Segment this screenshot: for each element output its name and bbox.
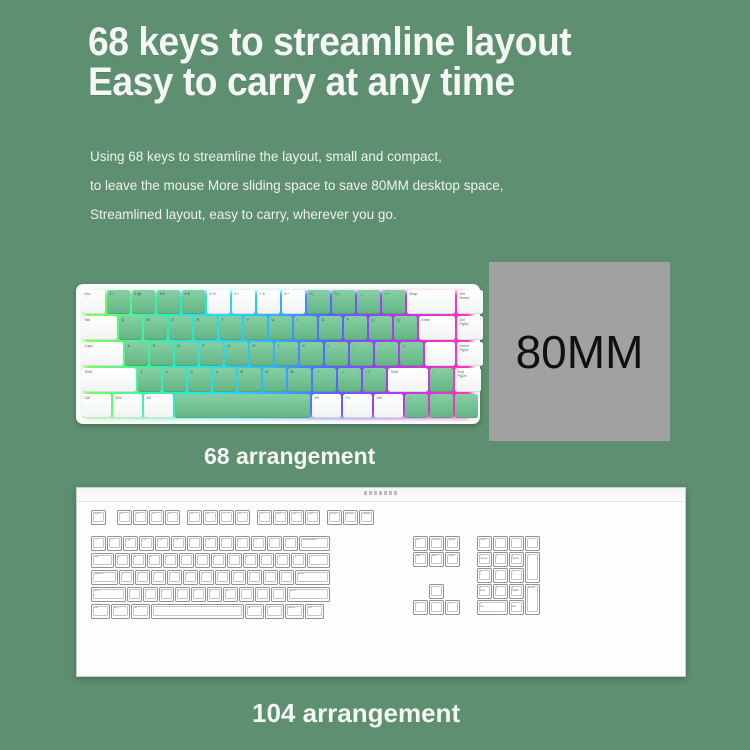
body-line-2: to leave the mouse More sliding space to… xyxy=(90,171,650,200)
key-a[interactable]: A xyxy=(119,570,134,585)
key-win[interactable]: Win xyxy=(113,394,142,418)
key--[interactable]: / xyxy=(493,536,508,551)
key-u[interactable]: U xyxy=(269,316,292,340)
key-f9[interactable]: F9 xyxy=(257,510,272,525)
key--[interactable]: * xyxy=(509,536,524,551)
key-a[interactable]: A xyxy=(125,342,148,366)
key-k[interactable]: K xyxy=(231,570,246,585)
key-u[interactable]: U xyxy=(211,553,226,568)
key--[interactable]: ` ~ xyxy=(91,536,106,551)
keyboard-bezel xyxy=(77,488,685,502)
key-x[interactable]: X xyxy=(143,587,158,602)
key-enter[interactable]: Enter xyxy=(419,316,455,340)
key-s[interactable]: S xyxy=(135,570,150,585)
key-pgup[interactable]: PgUp xyxy=(445,536,460,551)
key-t[interactable]: T xyxy=(219,316,242,340)
key-j[interactable]: J xyxy=(275,342,298,366)
key--[interactable]: [ { xyxy=(275,553,290,568)
key-d[interactable]: D xyxy=(175,342,198,366)
key-e[interactable]: E xyxy=(169,316,192,340)
key-fn[interactable]: Fn xyxy=(343,394,372,418)
key-s[interactable]: S xyxy=(150,342,173,366)
key--[interactable]: , < xyxy=(313,368,336,392)
key-3[interactable]: 3 PgDn xyxy=(509,584,524,599)
key-1[interactable]: 1 End xyxy=(477,584,492,599)
key-4-[interactable]: 4 $ xyxy=(182,290,205,314)
key-9-[interactable]: 9 ( xyxy=(235,536,250,551)
promo-page: 68 keys to streamline layout Easy to car… xyxy=(0,0,750,750)
key-z[interactable]: Z xyxy=(127,587,142,602)
key-ctrl[interactable]: Ctrl xyxy=(91,604,110,619)
key--[interactable]: \ | xyxy=(307,553,330,568)
key--[interactable]: \ | xyxy=(400,342,423,366)
key-f10[interactable]: F10 xyxy=(273,510,288,525)
key-f4[interactable]: F4 xyxy=(165,510,180,525)
key-fn[interactable]: Fn xyxy=(265,604,284,619)
key-b[interactable]: B xyxy=(238,368,261,392)
key-c[interactable]: C xyxy=(159,587,174,602)
key-l[interactable]: L xyxy=(325,342,348,366)
key-bksp[interactable]: Bksp xyxy=(407,290,455,314)
key--[interactable]: / ? xyxy=(363,368,386,392)
key-6-[interactable]: 6 ^ xyxy=(187,536,202,551)
key--[interactable]: - _ xyxy=(267,536,282,551)
key--[interactable]: / ? xyxy=(271,587,286,602)
key-menu[interactable]: Menu xyxy=(285,604,304,619)
key-ctrl[interactable]: Ctrl xyxy=(374,394,403,418)
key--[interactable]: → xyxy=(445,600,460,615)
key-k[interactable]: K xyxy=(300,342,323,366)
key-0[interactable]: 0 Ins xyxy=(477,600,508,615)
key-scrlk[interactable]: ScrLk xyxy=(343,510,358,525)
key-shift[interactable]: Shift xyxy=(287,587,330,602)
key-v[interactable]: V xyxy=(175,587,190,602)
key-9[interactable]: 9 PgUp xyxy=(509,552,524,567)
headline-line-1: 68 keys to streamline layout xyxy=(88,22,646,62)
key-f3[interactable]: F3 xyxy=(149,510,164,525)
caption-104: 104 arrangement xyxy=(252,698,460,729)
key-tab[interactable]: Tab xyxy=(91,553,114,568)
key-j[interactable]: J xyxy=(215,570,230,585)
keyboard-68-row: CapsASDFGHJKL; :' "\ |Home PgUp xyxy=(82,342,474,366)
key-g[interactable]: G xyxy=(225,342,248,366)
key-y[interactable]: Y xyxy=(244,316,267,340)
key--[interactable]: ↓ xyxy=(429,600,444,615)
key-4-[interactable]: 4 $ xyxy=(155,536,170,551)
key-3-[interactable]: 3 # xyxy=(157,290,180,314)
key-2[interactable]: 2 ↓ xyxy=(493,584,508,599)
measurement-callout-box: 80MM xyxy=(489,262,670,441)
key-shift[interactable]: Shift xyxy=(388,368,428,392)
measurement-label: 80MM xyxy=(516,325,644,379)
key-end[interactable]: End PgDn xyxy=(455,368,481,392)
key-x[interactable]: X xyxy=(163,368,186,392)
key-ctrl[interactable]: Ctrl xyxy=(82,394,111,418)
key-0-[interactable]: 0 ) xyxy=(332,290,355,314)
key-0-[interactable]: 0 ) xyxy=(251,536,266,551)
key-f11[interactable]: F11 xyxy=(289,510,304,525)
key-1-[interactable]: 1 ! xyxy=(107,536,122,551)
key-i[interactable]: I xyxy=(227,553,242,568)
key-shift[interactable]: Shift xyxy=(82,368,136,392)
key-esc[interactable]: Esc ~ ` xyxy=(82,290,105,314)
key-enter[interactable]: Enter xyxy=(295,570,330,585)
key-o[interactable]: O xyxy=(319,316,342,340)
key--[interactable]: ↑ xyxy=(430,368,453,392)
key--[interactable]: → xyxy=(455,394,478,418)
key-tab[interactable]: Tab xyxy=(82,316,117,340)
key--[interactable]: . Del xyxy=(509,600,524,615)
body-line-3: Streamlined layout, easy to carry, where… xyxy=(90,200,650,229)
key-8-[interactable]: 8 * xyxy=(282,290,305,314)
key--[interactable]: - _ xyxy=(357,290,380,314)
key--[interactable]: + xyxy=(525,552,540,583)
key-5[interactable]: 5 xyxy=(493,568,508,583)
key-f7[interactable]: F7 xyxy=(219,510,234,525)
key-g[interactable]: G xyxy=(183,570,198,585)
key-q[interactable]: Q xyxy=(119,316,142,340)
key-ins[interactable]: Ins xyxy=(413,536,428,551)
keyboard-68-row: TabQWERTYUIOP[ {] }EnterDel PgUp xyxy=(82,316,474,340)
key-y[interactable]: Y xyxy=(195,553,210,568)
keyboard-68-image: Esc ~ `1 !2 @3 #4 $5 %6 ^7 &8 *9 (0 )- _… xyxy=(76,284,480,424)
body-line-1: Using 68 keys to streamline the layout, … xyxy=(90,142,650,171)
key--[interactable]: ] } xyxy=(394,316,417,340)
key-3-[interactable]: 3 # xyxy=(139,536,154,551)
key--[interactable]: ; : xyxy=(263,570,278,585)
key-home[interactable]: Home xyxy=(429,536,444,551)
key-z[interactable]: Z xyxy=(138,368,161,392)
key--[interactable]: = + xyxy=(283,536,298,551)
key-n[interactable]: N xyxy=(263,368,286,392)
key-m[interactable]: M xyxy=(223,587,238,602)
key-del[interactable]: Del PgUp xyxy=(457,316,483,340)
key-f5[interactable]: F5 xyxy=(187,510,202,525)
keyboard-68-row: ShiftZXCVBNM, <. >/ ?Shift↑End PgDn xyxy=(82,368,474,392)
keyboard-68-row: CtrlWinAltAltFnCtrl←↓→ xyxy=(82,394,474,418)
key-b[interactable]: B xyxy=(191,587,206,602)
key-win[interactable]: Win xyxy=(111,604,130,619)
key-f1[interactable]: F1 xyxy=(117,510,132,525)
key-del[interactable]: Del xyxy=(413,552,428,567)
key--[interactable]: [ { xyxy=(369,316,392,340)
key-6[interactable]: 6 → xyxy=(509,568,524,583)
key-2-[interactable]: 2 @ xyxy=(132,290,155,314)
caption-68: 68 arrangement xyxy=(204,443,375,470)
key-f12[interactable]: F12 xyxy=(305,510,320,525)
key-4[interactable]: 4 ← xyxy=(477,568,492,583)
key-end[interactable]: End xyxy=(429,552,444,567)
key-6-[interactable]: 6 ^ xyxy=(232,290,255,314)
key-f8[interactable]: F8 xyxy=(235,510,250,525)
key-7[interactable]: 7 Home xyxy=(477,552,492,567)
key-q[interactable]: Q xyxy=(115,553,130,568)
description-paragraph: Using 68 keys to streamline the layout, … xyxy=(90,142,650,229)
key-m[interactable]: M xyxy=(288,368,311,392)
key-pgdn[interactable]: PgDn xyxy=(445,552,460,567)
key-5-[interactable]: 5 % xyxy=(171,536,186,551)
key-backspace[interactable]: Backspace xyxy=(299,536,330,551)
key--[interactable]: - xyxy=(525,536,540,551)
key-o[interactable]: O xyxy=(243,553,258,568)
key-8-[interactable]: 8 * xyxy=(219,536,234,551)
key-7-[interactable]: 7 & xyxy=(203,536,218,551)
key-9-[interactable]: 9 ( xyxy=(307,290,330,314)
key-space[interactable] xyxy=(175,394,310,418)
key-e[interactable]: E xyxy=(147,553,162,568)
key-f[interactable]: F xyxy=(200,342,223,366)
key-t[interactable]: T xyxy=(179,553,194,568)
key-i[interactable]: I xyxy=(294,316,317,340)
key-2-[interactable]: 2 @ xyxy=(123,536,138,551)
brand-logo xyxy=(364,491,398,495)
key-l[interactable]: L xyxy=(247,570,262,585)
key-c[interactable]: C xyxy=(188,368,211,392)
key-r[interactable]: R xyxy=(163,553,178,568)
key-w[interactable]: W xyxy=(131,553,146,568)
key-alt[interactable]: Alt xyxy=(131,604,150,619)
key--[interactable]: ← xyxy=(413,600,428,615)
key-capslk[interactable]: CapsLk xyxy=(91,570,118,585)
key--[interactable]: , < xyxy=(239,587,254,602)
headline-line-2: Easy to carry at any time xyxy=(88,62,646,102)
key-v[interactable]: V xyxy=(213,368,236,392)
key--[interactable]: ↓ xyxy=(430,394,453,418)
key--[interactable]: = + xyxy=(382,290,405,314)
key--[interactable]: . > xyxy=(338,368,361,392)
key-num[interactable]: Num xyxy=(477,536,492,551)
key--[interactable]: ← xyxy=(405,394,428,418)
key-h[interactable]: H xyxy=(199,570,214,585)
key--[interactable]: ↑ xyxy=(429,584,444,599)
key--[interactable]: . > xyxy=(255,587,270,602)
key-1-[interactable]: 1 ! xyxy=(107,290,130,314)
key-h[interactable]: H xyxy=(250,342,273,366)
key-pause[interactable]: Pause xyxy=(359,510,374,525)
key-r[interactable]: R xyxy=(194,316,217,340)
key--[interactable]: ' " xyxy=(279,570,294,585)
key-prtsc[interactable]: PrtSc xyxy=(327,510,342,525)
key-caps[interactable]: Caps xyxy=(82,342,123,366)
key-5-[interactable]: 5 % xyxy=(207,290,230,314)
key-7-[interactable]: 7 & xyxy=(257,290,280,314)
key-home[interactable]: Home PgUp xyxy=(457,342,483,366)
key-esc[interactable]: ESC xyxy=(91,510,106,525)
key-p[interactable]: P xyxy=(259,553,274,568)
key-f6[interactable]: F6 xyxy=(203,510,218,525)
key-alt[interactable]: Alt xyxy=(245,604,264,619)
key-space[interactable] xyxy=(425,342,455,366)
key-alt[interactable]: Alt xyxy=(312,394,341,418)
key--[interactable]: ' " xyxy=(375,342,398,366)
page-title: 68 keys to streamline layout Easy to car… xyxy=(88,22,646,102)
keyboard-104-image: ESCF1F2F3F4F5F6F7F8F9F10F11F12PrtScScrLk… xyxy=(76,487,686,677)
key-shift[interactable]: Shift xyxy=(91,587,126,602)
key-n[interactable]: N xyxy=(207,587,222,602)
key-ctrl[interactable]: Ctrl xyxy=(305,604,324,619)
key-8[interactable]: 8 ↑ xyxy=(493,552,508,567)
key-space[interactable] xyxy=(151,604,244,619)
key-w[interactable]: W xyxy=(144,316,167,340)
key-enter[interactable]: Enter xyxy=(525,584,540,615)
key-f[interactable]: F xyxy=(167,570,182,585)
key--[interactable]: ] } xyxy=(291,553,306,568)
key--[interactable]: ; : xyxy=(350,342,373,366)
key-del[interactable]: Del Home xyxy=(457,290,483,314)
keyboard-68-row: Esc ~ `1 !2 @3 #4 $5 %6 ^7 &8 *9 (0 )- _… xyxy=(82,290,474,314)
key-f2[interactable]: F2 xyxy=(133,510,148,525)
key-alt[interactable]: Alt xyxy=(144,394,173,418)
key-d[interactable]: D xyxy=(151,570,166,585)
key-p[interactable]: P xyxy=(344,316,367,340)
